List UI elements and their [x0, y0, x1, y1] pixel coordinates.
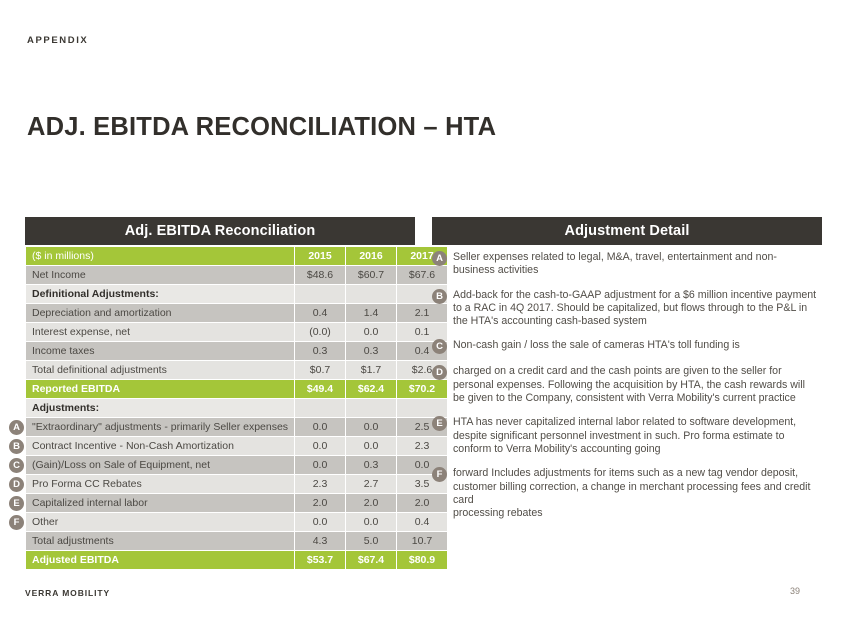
row-value-2015: 2.0 [295, 494, 345, 512]
page-title: ADJ. EBITDA RECONCILIATION – HTA [27, 113, 496, 142]
detail-item: Dcharged on a credit card and the cash p… [432, 365, 822, 405]
page-number: 39 [790, 586, 800, 596]
reconciliation-table-body: ($ in millions)201520162017Net Income$48… [26, 247, 447, 569]
row-label: Contract Incentive - Non-Cash Amortizati… [26, 437, 294, 455]
detail-badge-a: A [432, 251, 447, 266]
detail-badge-c: C [432, 339, 447, 354]
reconciliation-panel-heading: Adj. EBITDA Reconciliation [25, 217, 415, 245]
row-badge-d: D [9, 477, 24, 492]
row-label: Capitalized internal labor [26, 494, 294, 512]
row-badge-a: A [9, 420, 24, 435]
brand-footer: VERRA MOBILITY [25, 588, 110, 598]
detail-text: Non-cash gain / loss the sale of cameras… [453, 339, 740, 352]
table-row: Interest expense, net(0.0)0.00.1 [26, 323, 447, 341]
row-label: Total adjustments [26, 532, 294, 550]
row-value-2015: 0.3 [295, 342, 345, 360]
row-label: Total definitional adjustments [26, 361, 294, 379]
row-value-2016: 5.0 [346, 532, 396, 550]
row-value-2016: 1.4 [346, 304, 396, 322]
row-value-2015 [295, 285, 345, 303]
row-value-2015: 0.0 [295, 513, 345, 531]
row-value-2015: 4.3 [295, 532, 345, 550]
table-row: Net Income$48.6$60.7$67.6 [26, 266, 447, 284]
reconciliation-panel: Adj. EBITDA Reconciliation ($ in million… [25, 217, 415, 570]
row-value-2016: 0.0 [346, 513, 396, 531]
row-value-2016: 2.7 [346, 475, 396, 493]
row-value-2016: $60.7 [346, 266, 396, 284]
row-badge-f: F [9, 515, 24, 530]
detail-item: EHTA has never capitalized internal labo… [432, 416, 822, 456]
row-value-2016: 2.0 [346, 494, 396, 512]
row-value-2016: 0.0 [346, 418, 396, 436]
row-value-2015: 0.4 [295, 304, 345, 322]
row-label: Reported EBITDA [26, 380, 294, 398]
row-value-2017: 10.7 [397, 532, 447, 550]
row-value-2016: 0.3 [346, 456, 396, 474]
adjustment-detail-list: ASeller expenses related to legal, M&A, … [432, 251, 822, 520]
row-label: ($ in millions) [26, 247, 294, 265]
table-row: Other0.00.00.4 [26, 513, 447, 531]
row-value-2015: $0.7 [295, 361, 345, 379]
detail-text: charged on a credit card and the cash po… [453, 365, 818, 405]
detail-badge-b: B [432, 289, 447, 304]
detail-badge-d: D [432, 365, 447, 380]
detail-item: ASeller expenses related to legal, M&A, … [432, 251, 822, 278]
row-value-2016: $1.7 [346, 361, 396, 379]
detail-badge-f: F [432, 467, 447, 482]
table-row: Contract Incentive - Non-Cash Amortizati… [26, 437, 447, 455]
table-row: "Extraordinary" adjustments - primarily … [26, 418, 447, 436]
row-label: "Extraordinary" adjustments - primarily … [26, 418, 294, 436]
table-row: Depreciation and amortization0.41.42.1 [26, 304, 447, 322]
row-value-2016: $67.4 [346, 551, 396, 569]
row-label: Adjustments: [26, 399, 294, 417]
table-row: Total adjustments4.35.010.7 [26, 532, 447, 550]
row-value-2015: $53.7 [295, 551, 345, 569]
row-value-2015: (0.0) [295, 323, 345, 341]
row-badge-e: E [9, 496, 24, 511]
row-label: Definitional Adjustments: [26, 285, 294, 303]
row-value-2015: $49.4 [295, 380, 345, 398]
table-row: Definitional Adjustments: [26, 285, 447, 303]
row-value-2016: 0.3 [346, 342, 396, 360]
detail-text: Seller expenses related to legal, M&A, t… [453, 251, 818, 278]
row-value-2015: 2015 [295, 247, 345, 265]
row-label: Depreciation and amortization [26, 304, 294, 322]
detail-badge-e: E [432, 416, 447, 431]
row-label: Adjusted EBITDA [26, 551, 294, 569]
row-value-2017: $80.9 [397, 551, 447, 569]
table-row: Capitalized internal labor2.02.02.0 [26, 494, 447, 512]
detail-item: CNon-cash gain / loss the sale of camera… [432, 339, 822, 354]
table-row: Income taxes0.30.30.4 [26, 342, 447, 360]
row-label: Other [26, 513, 294, 531]
adjustment-detail-panel-heading: Adjustment Detail [432, 217, 822, 245]
row-label: Pro Forma CC Rebates [26, 475, 294, 493]
row-value-2015: 0.0 [295, 437, 345, 455]
row-value-2016: $62.4 [346, 380, 396, 398]
detail-text: forward Includes adjustments for items s… [453, 467, 818, 520]
row-value-2015: 0.0 [295, 456, 345, 474]
table-row: Adjusted EBITDA$53.7$67.4$80.9 [26, 551, 447, 569]
reconciliation-table: ($ in millions)201520162017Net Income$48… [25, 246, 448, 570]
table-row: Pro Forma CC Rebates2.32.73.5 [26, 475, 447, 493]
row-value-2016 [346, 399, 396, 417]
row-value-2015: 2.3 [295, 475, 345, 493]
table-row: ($ in millions)201520162017 [26, 247, 447, 265]
row-badge-c: C [9, 458, 24, 473]
table-row: Adjustments: [26, 399, 447, 417]
row-value-2015: $48.6 [295, 266, 345, 284]
row-label: Net Income [26, 266, 294, 284]
detail-item: BAdd-back for the cash-to-GAAP adjustmen… [432, 289, 822, 329]
row-badge-b: B [9, 439, 24, 454]
row-value-2016: 2016 [346, 247, 396, 265]
table-row: (Gain)/Loss on Sale of Equipment, net0.0… [26, 456, 447, 474]
row-label: Interest expense, net [26, 323, 294, 341]
row-value-2015 [295, 399, 345, 417]
detail-text: HTA has never capitalized internal labor… [453, 416, 818, 456]
row-value-2016 [346, 285, 396, 303]
detail-text: Add-back for the cash-to-GAAP adjustment… [453, 289, 818, 329]
row-value-2016: 0.0 [346, 323, 396, 341]
row-label: Income taxes [26, 342, 294, 360]
row-value-2016: 0.0 [346, 437, 396, 455]
eyebrow-label: APPENDIX [27, 35, 88, 46]
table-row: Reported EBITDA$49.4$62.4$70.2 [26, 380, 447, 398]
row-value-2015: 0.0 [295, 418, 345, 436]
adjustment-detail-panel: Adjustment Detail ASeller expenses relat… [432, 217, 822, 531]
table-row: Total definitional adjustments$0.7$1.7$2… [26, 361, 447, 379]
detail-item: Fforward Includes adjustments for items … [432, 467, 822, 520]
row-label: (Gain)/Loss on Sale of Equipment, net [26, 456, 294, 474]
